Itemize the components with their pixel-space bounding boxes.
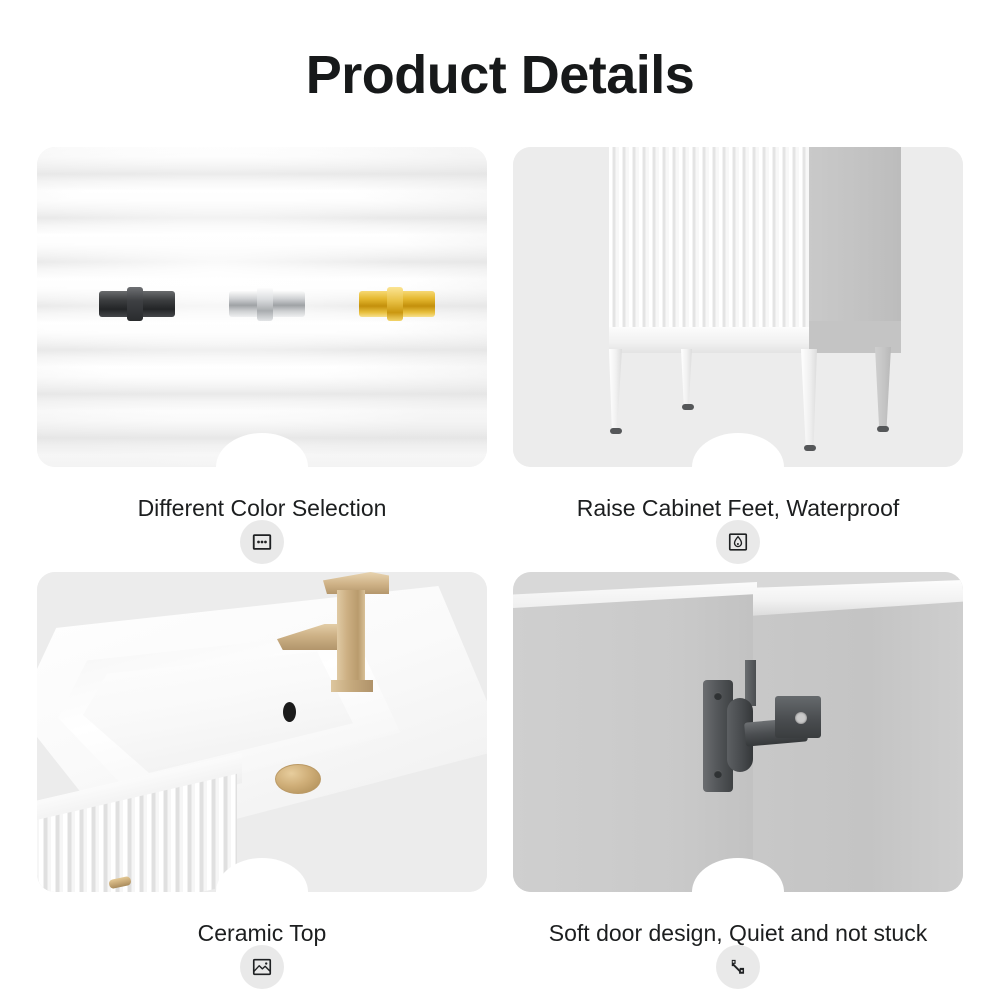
photo-landscape-icon: [240, 945, 284, 989]
cabinet-foot-cap-rear-right: [877, 426, 889, 432]
connector-fittings-group: [37, 279, 487, 339]
connector-brushed-nickel: [229, 291, 305, 317]
connector-polished-gold: [359, 291, 435, 317]
product-details-page: Product Details: [0, 0, 1000, 1000]
hinge-adjustment-screw: [795, 712, 807, 724]
feature-card-different-color-selection[interactable]: Different Color Selection: [37, 147, 487, 542]
card-caption-color-selection: Different Color Selection: [37, 495, 487, 522]
connector-matte-black: [99, 291, 175, 317]
feature-card-raise-cabinet-feet[interactable]: Raise Cabinet Feet, Waterproof: [513, 147, 963, 542]
card-photo-soft-door-hinge: [513, 572, 963, 892]
sink-drain-gold: [275, 764, 321, 794]
card-photo-cabinet-feet: [513, 147, 963, 467]
card-photo-ceramic-top: [37, 572, 487, 892]
hinge-icon: [716, 945, 760, 989]
cabinet-foot-cap-front-right: [804, 445, 816, 451]
cabinet-side-panel: [809, 147, 901, 337]
faucet-body: [337, 590, 365, 685]
cabinet-fluted-front: [609, 147, 809, 327]
feature-card-ceramic-top[interactable]: Ceramic Top: [37, 572, 487, 967]
card-photo-color-selection: [37, 147, 487, 467]
card-caption-ceramic-top: Ceramic Top: [37, 920, 487, 947]
hinge-screw-top: [714, 692, 722, 700]
feature-card-grid: Different Color Selection: [37, 147, 963, 967]
card-caption-cabinet-feet: Raise Cabinet Feet, Waterproof: [513, 495, 963, 522]
page-title: Product Details: [0, 44, 1000, 106]
feature-card-soft-door-design[interactable]: Soft door design, Quiet and not stuck: [513, 572, 963, 967]
water-drop-icon: [716, 520, 760, 564]
faucet-base-plate: [331, 680, 373, 692]
cabinet-bottom-skirt: [609, 327, 809, 353]
dots-square-icon: [240, 520, 284, 564]
cabinet-foot-cap-front-left: [610, 428, 622, 434]
sink-overflow-hole: [283, 702, 296, 722]
hinge-screw-bottom: [714, 770, 722, 778]
cabinet-foot-cap-rear-left: [682, 404, 694, 410]
card-caption-soft-door-design: Soft door design, Quiet and not stuck: [513, 920, 963, 947]
